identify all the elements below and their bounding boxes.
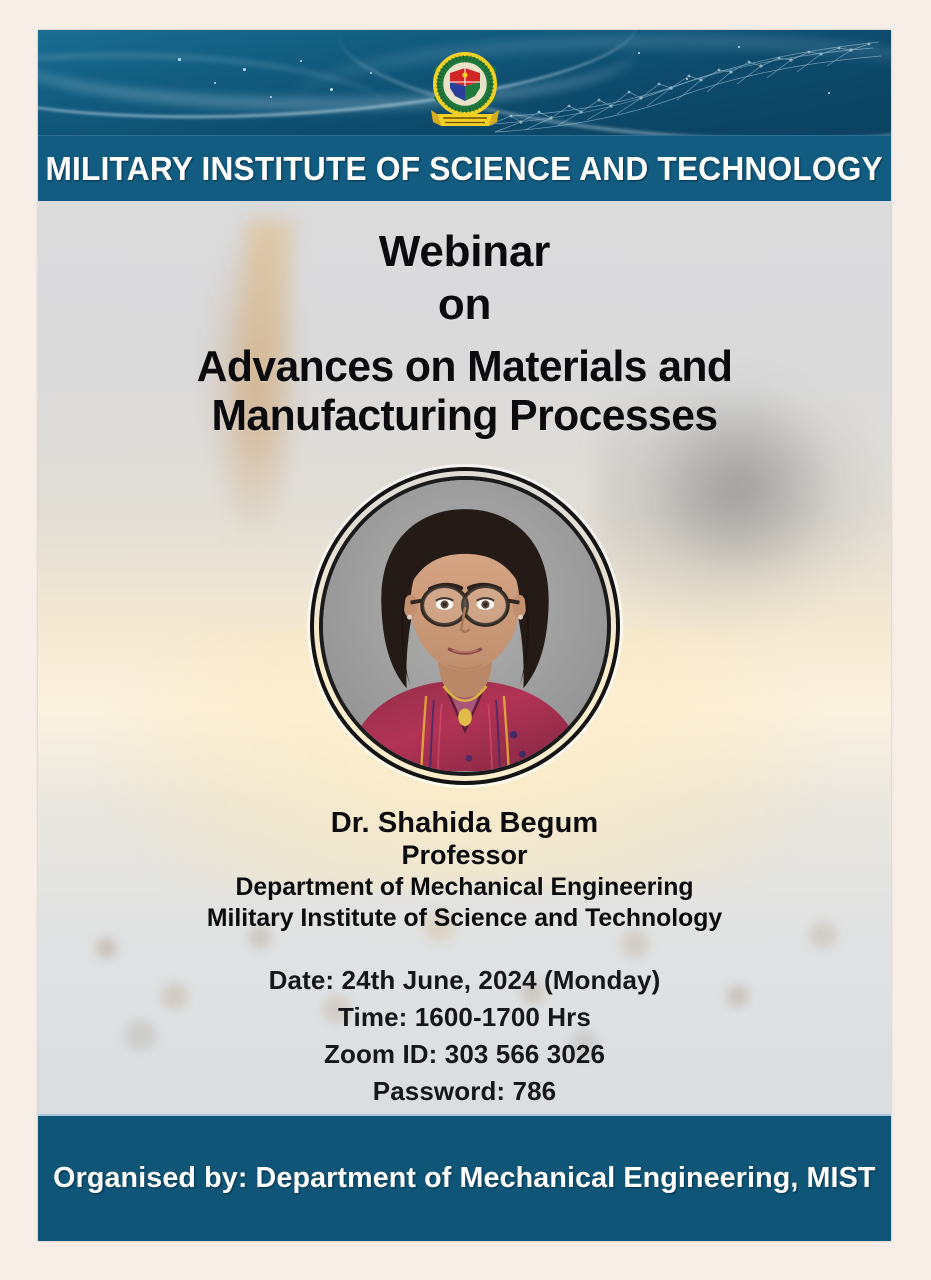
event-date: Date: 24th June, 2024 (Monday) [38,962,891,999]
sparkle-icon [370,72,372,74]
sparkle-icon [686,78,688,80]
sparkle-icon [214,82,216,84]
sparkle-icon [638,52,640,54]
sparkle-icon [178,58,181,61]
header-banner [38,30,891,135]
speaker-designation: Professor [38,840,891,872]
sparkle-icon [270,96,272,98]
sparkle-icon [828,92,830,94]
speaker-institute: Military Institute of Science and Techno… [42,903,886,934]
zoom-password: Password: 786 [38,1073,891,1110]
webinar-topic: Advances on Materials and Manufacturing … [51,342,878,441]
speaker-name: Dr. Shahida Begum [38,807,891,841]
event-time: Time: 1600-1700 Hrs [38,999,891,1036]
event-type-heading: Webinar [38,226,891,277]
poster-body: Webinar on Advances on Materials and Man… [38,201,891,1114]
institute-title-bar: MILITARY INSTITUTE OF SCIENCE AND TECHNO… [38,135,891,201]
topic-line-2: Manufacturing Processes [51,391,878,440]
institute-title: MILITARY INSTITUTE OF SCIENCE AND TECHNO… [46,150,883,188]
portrait-inner-ring [319,476,611,776]
sparkle-icon [738,46,740,48]
speaker-department: Department of Mechanical Engineering [42,872,886,903]
zoom-id: Zoom ID: 303 566 3026 [38,1036,891,1073]
network-wave-icon [481,32,891,135]
topic-line-1: Advances on Materials and [51,342,878,391]
speaker-portrait-icon [323,480,607,772]
connector-word: on [38,279,891,330]
webinar-poster: MILITARY INSTITUTE OF SCIENCE AND TECHNO… [38,30,891,1241]
speaker-portrait [310,467,620,785]
event-details: Date: 24th June, 2024 (Monday) Time: 160… [38,962,891,1110]
sparkle-icon [330,88,333,91]
sparkle-icon [243,68,246,71]
organised-by-text: Organised by: Department of Mechanical E… [53,1162,875,1195]
footer-banner: Organised by: Department of Mechanical E… [38,1114,891,1241]
mist-crest-logo-icon [427,48,503,134]
sparkle-icon [300,60,302,62]
speaker-details: Dr. Shahida Begum Professor Department o… [38,807,891,934]
